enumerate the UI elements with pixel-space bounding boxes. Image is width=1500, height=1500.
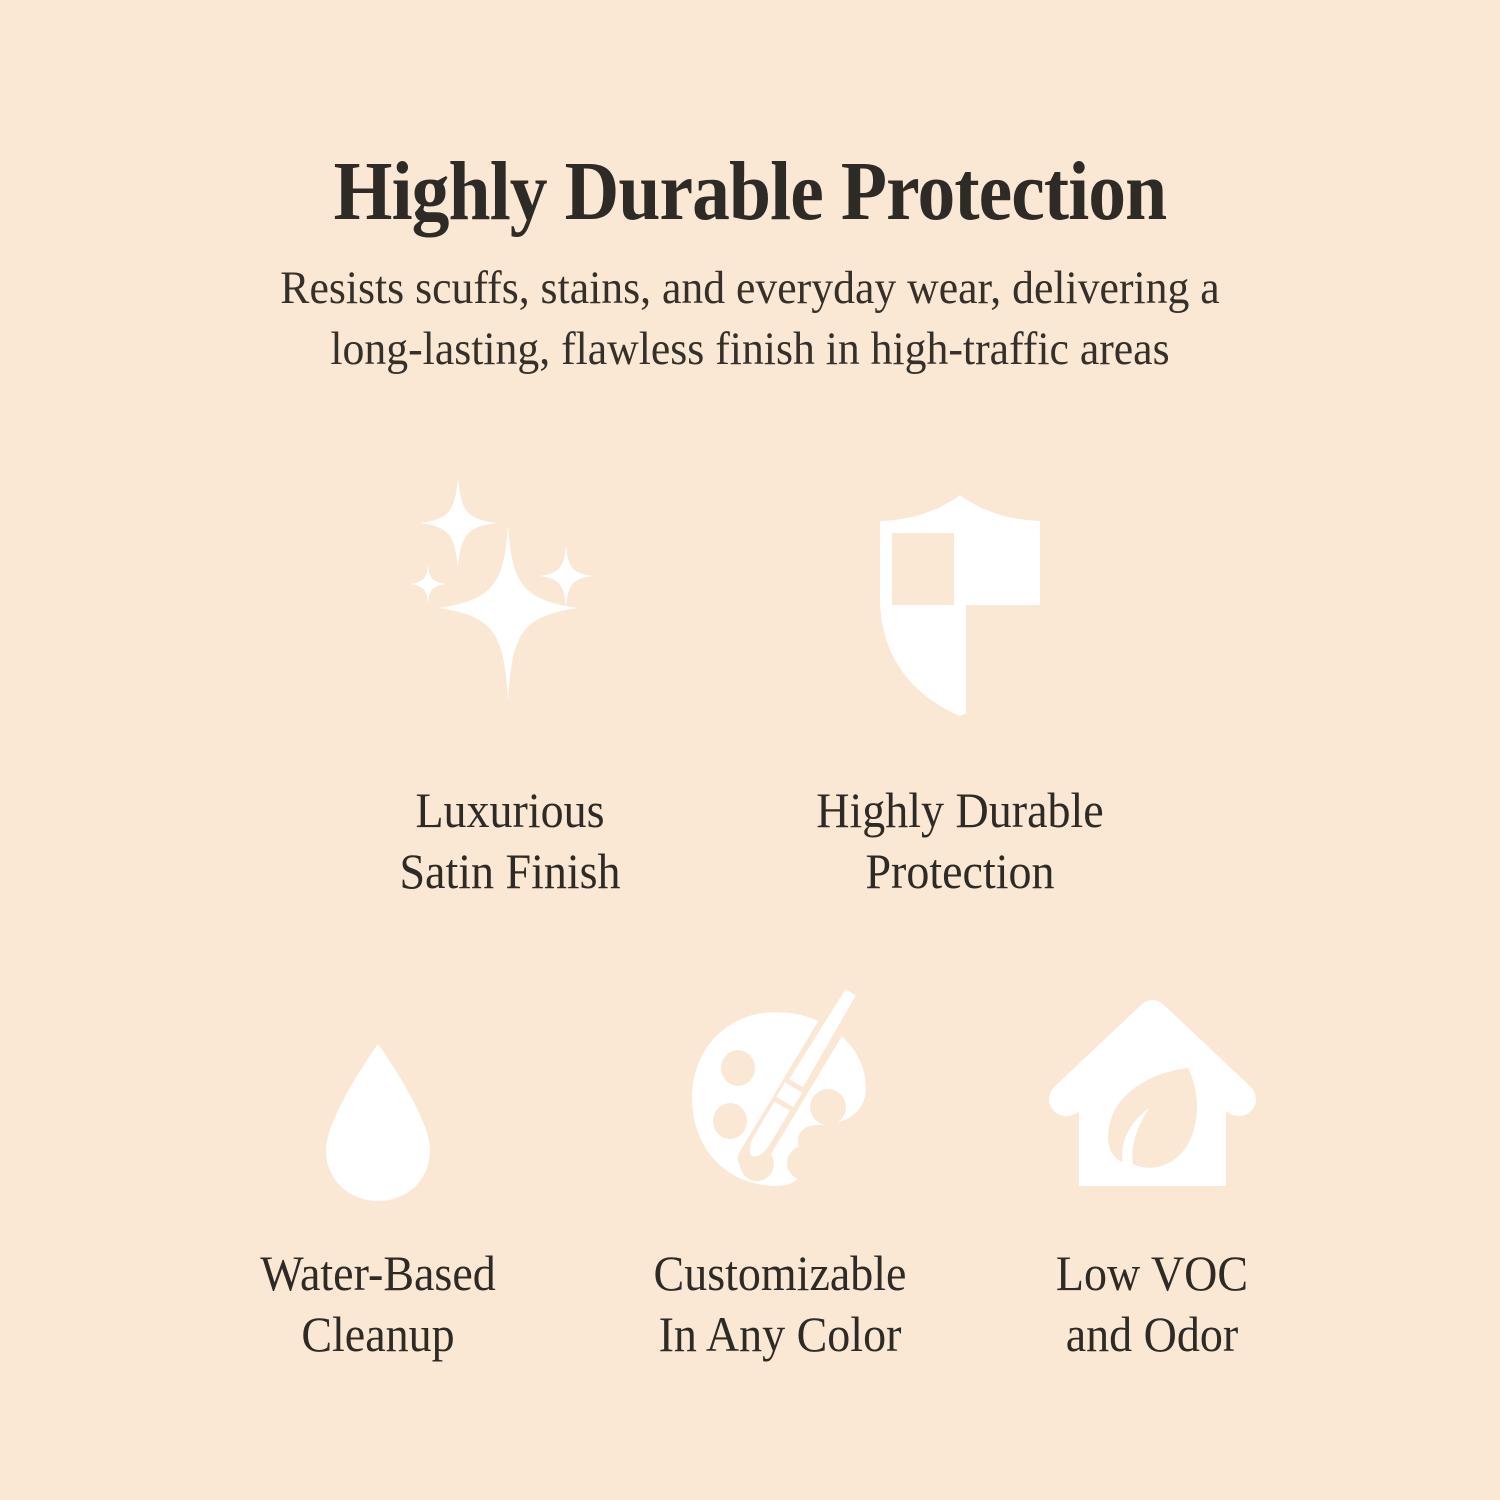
feature-label-line-2: Protection	[753, 841, 1167, 902]
feature-label-satin-finish: Luxurious Satin Finish	[303, 780, 717, 902]
page-subtitle-line-2: long-lasting, flawless finish in high-tr…	[155, 319, 1345, 380]
page-subtitle-line-1: Resists scuffs, stains, and everyday wea…	[155, 258, 1345, 319]
feature-label-customizable-color: Customizable In Any Color	[607, 1243, 953, 1365]
shield-icon	[735, 470, 1185, 720]
feature-label-durable-protection: Highly Durable Protection	[753, 780, 1167, 902]
feature-label-line-2: and Odor	[983, 1304, 1322, 1365]
paint-palette-icon	[592, 970, 968, 1205]
feature-item-durable-protection: Highly Durable Protection	[735, 470, 1185, 902]
feature-label-line-2: Cleanup	[203, 1304, 553, 1365]
feature-label-line-1: Highly Durable	[753, 780, 1167, 841]
water-droplet-icon	[188, 970, 568, 1205]
page-title: Highly Durable Protection	[174, 150, 1326, 234]
house-leaf-icon	[968, 970, 1336, 1205]
feature-label-line-2: In Any Color	[607, 1304, 953, 1365]
feature-item-low-voc: Low VOC and Odor	[968, 970, 1336, 1365]
feature-label-line-2: Satin Finish	[303, 841, 717, 902]
feature-label-line-1: Low VOC	[983, 1243, 1322, 1304]
feature-label-line-1: Customizable	[607, 1243, 953, 1304]
feature-label-line-1: Water-Based	[203, 1243, 553, 1304]
feature-item-customizable-color: Customizable In Any Color	[592, 970, 968, 1365]
feature-label-water-cleanup: Water-Based Cleanup	[203, 1243, 553, 1365]
page-subtitle: Resists scuffs, stains, and everyday wea…	[155, 258, 1345, 380]
feature-label-line-1: Luxurious	[303, 780, 717, 841]
feature-item-satin-finish: Luxurious Satin Finish	[285, 470, 735, 902]
feature-grid: Luxurious Satin Finish H	[0, 470, 1500, 1390]
feature-label-low-voc: Low VOC and Odor	[983, 1243, 1322, 1365]
header-block: Highly Durable Protection Resists scuffs…	[0, 150, 1500, 380]
feature-item-water-cleanup: Water-Based Cleanup	[188, 970, 568, 1365]
sparkles-icon	[285, 470, 735, 720]
